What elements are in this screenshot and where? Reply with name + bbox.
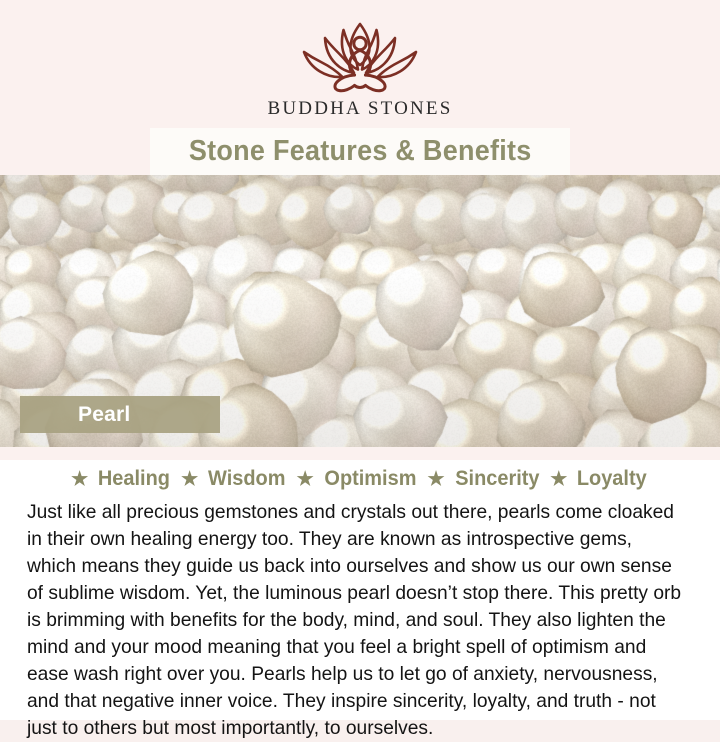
divider-strip [0, 447, 720, 460]
stone-photo: Pearl [0, 175, 720, 447]
keyword-label: Optimism [324, 467, 416, 491]
keyword-optimism: ★Optimism [297, 467, 419, 491]
keyword-label: Sincerity [455, 467, 539, 491]
star-icon: ★ [550, 470, 567, 489]
keyword-healing: ★Healing [71, 467, 172, 491]
star-icon: ★ [181, 470, 198, 489]
keyword-label: Wisdom [208, 467, 285, 491]
page-title: Stone Features & Benefits [189, 135, 532, 168]
keyword-label: Loyalty [577, 467, 647, 491]
brand-name: BUDDHA STONES [267, 98, 452, 120]
title-banner: Stone Features & Benefits [150, 128, 570, 175]
keyword-sincerity: ★Sincerity [428, 467, 542, 491]
stone-name: Pearl [78, 403, 130, 427]
lotus-meditation-icon [285, 18, 435, 94]
brand-logo: BUDDHA STONES [0, 18, 720, 120]
star-icon: ★ [297, 470, 314, 489]
star-icon: ★ [71, 470, 88, 489]
keyword-label: Healing [98, 467, 170, 491]
content-panel: ★Healing★Wisdom★Optimism★Sincerity★Loyal… [0, 447, 720, 720]
description-text: Just like all precious gemstones and cry… [27, 499, 685, 742]
keyword-loyalty: ★Loyalty [550, 467, 649, 491]
keyword-wisdom: ★Wisdom [181, 467, 288, 491]
stone-label-band: Pearl [20, 396, 220, 433]
keyword-list: ★Healing★Wisdom★Optimism★Sincerity★Loyal… [0, 467, 720, 491]
star-icon: ★ [428, 470, 445, 489]
